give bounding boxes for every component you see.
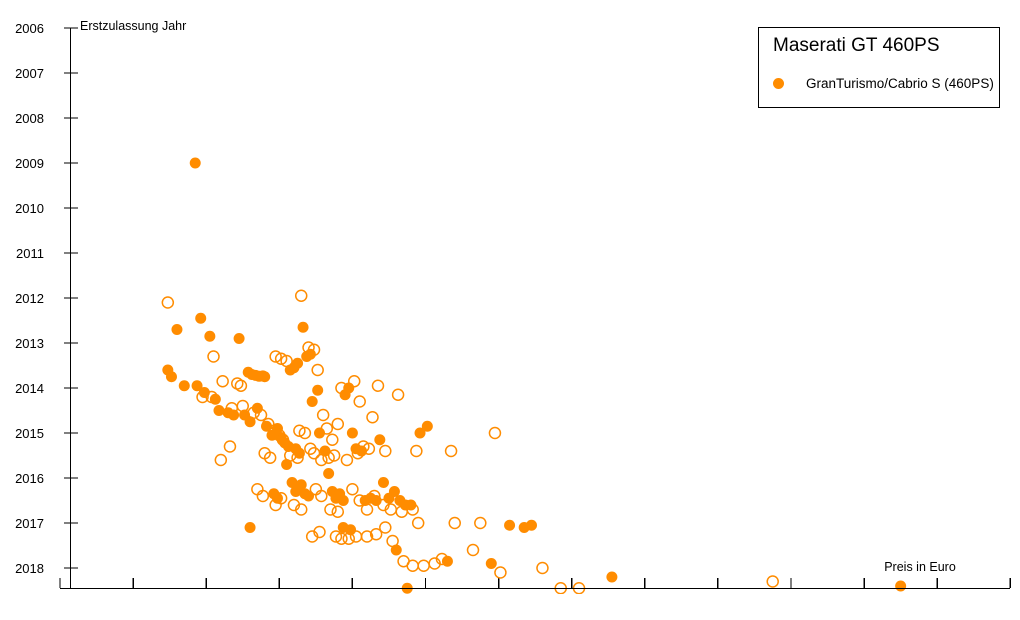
data-point — [245, 522, 256, 533]
data-point — [347, 484, 358, 495]
data-point — [767, 576, 778, 587]
data-point — [171, 324, 182, 335]
y-tick-label: 2014 — [15, 381, 44, 396]
data-point — [418, 560, 429, 571]
data-point — [298, 322, 309, 333]
legend-title: Maserati GT 460PS — [773, 35, 940, 57]
data-point — [318, 410, 329, 421]
data-point — [374, 434, 385, 445]
data-point — [407, 560, 418, 571]
data-point — [323, 468, 334, 479]
data-point — [606, 572, 617, 583]
data-point — [179, 380, 190, 391]
y-tick-label: 2017 — [15, 516, 44, 531]
x-axis-title: Preis in Euro — [884, 560, 956, 574]
y-tick-label: 2006 — [15, 21, 44, 36]
data-point — [411, 446, 422, 457]
data-point — [446, 446, 457, 457]
legend-entry-granturismo[interactable]: GranTurismo/Cabrio S (460PS) — [773, 76, 994, 91]
y-tick-label: 2009 — [15, 156, 44, 171]
data-point — [325, 504, 336, 515]
data-point — [327, 434, 338, 445]
data-point — [332, 419, 343, 430]
data-point — [259, 371, 270, 382]
y-tick-label: 2012 — [15, 291, 44, 306]
axis-ticks-group: 2000040000600008000010000012000014000016… — [15, 21, 1020, 610]
data-point — [526, 520, 537, 531]
y-tick-label: 2008 — [15, 111, 44, 126]
data-point — [215, 455, 226, 466]
data-point — [312, 385, 323, 396]
data-point — [195, 313, 206, 324]
data-point — [380, 446, 391, 457]
data-point — [228, 410, 239, 421]
data-point — [292, 358, 303, 369]
data-point — [347, 428, 358, 439]
data-point — [372, 380, 383, 391]
data-point — [468, 545, 479, 556]
data-point — [367, 412, 378, 423]
data-point — [321, 423, 332, 434]
data-point — [204, 331, 215, 342]
y-tick-label: 2016 — [15, 471, 44, 486]
data-point — [338, 495, 349, 506]
y-tick-label: 2007 — [15, 66, 44, 81]
scatter-chart: 2000040000600008000010000012000014000016… — [0, 0, 1020, 620]
y-tick-label: 2015 — [15, 426, 44, 441]
data-point — [208, 351, 219, 362]
data-point — [354, 396, 365, 407]
data-point — [895, 581, 906, 592]
data-point — [380, 522, 391, 533]
legend-entry-label: GranTurismo/Cabrio S (460PS) — [806, 76, 994, 91]
data-point — [235, 380, 246, 391]
data-point — [234, 333, 245, 344]
data-point — [504, 520, 515, 531]
data-point — [341, 455, 352, 466]
data-point — [312, 365, 323, 376]
data-point — [449, 518, 460, 529]
data-point — [224, 441, 235, 452]
data-point — [387, 536, 398, 547]
data-point — [303, 491, 314, 502]
data-point — [378, 477, 389, 488]
data-point — [316, 455, 327, 466]
data-point — [489, 428, 500, 439]
y-axis-title: Erstzulassung Jahr — [80, 19, 186, 33]
data-point — [413, 518, 424, 529]
data-point — [486, 558, 497, 569]
data-point — [190, 158, 201, 169]
data-point — [213, 405, 224, 416]
legend-marker-icon — [773, 78, 784, 89]
data-point — [307, 396, 318, 407]
data-point — [166, 371, 177, 382]
y-tick-label: 2011 — [16, 246, 44, 261]
y-tick-label: 2010 — [15, 201, 44, 216]
data-point — [393, 389, 404, 400]
data-point — [162, 297, 173, 308]
data-points-group — [0, 158, 1020, 620]
data-point — [349, 376, 360, 387]
y-tick-label: 2013 — [15, 336, 44, 351]
data-point — [296, 290, 307, 301]
below-axis-mask — [0, 594, 1020, 620]
data-point — [537, 563, 548, 574]
data-point — [351, 531, 362, 542]
data-point — [495, 567, 506, 578]
data-point — [422, 421, 433, 432]
y-tick-label: 2018 — [15, 561, 44, 576]
data-point — [332, 506, 343, 517]
data-point — [475, 518, 486, 529]
data-point — [217, 376, 228, 387]
legend: Maserati GT 460PS GranTurismo/Cabrio S (… — [758, 27, 1000, 108]
